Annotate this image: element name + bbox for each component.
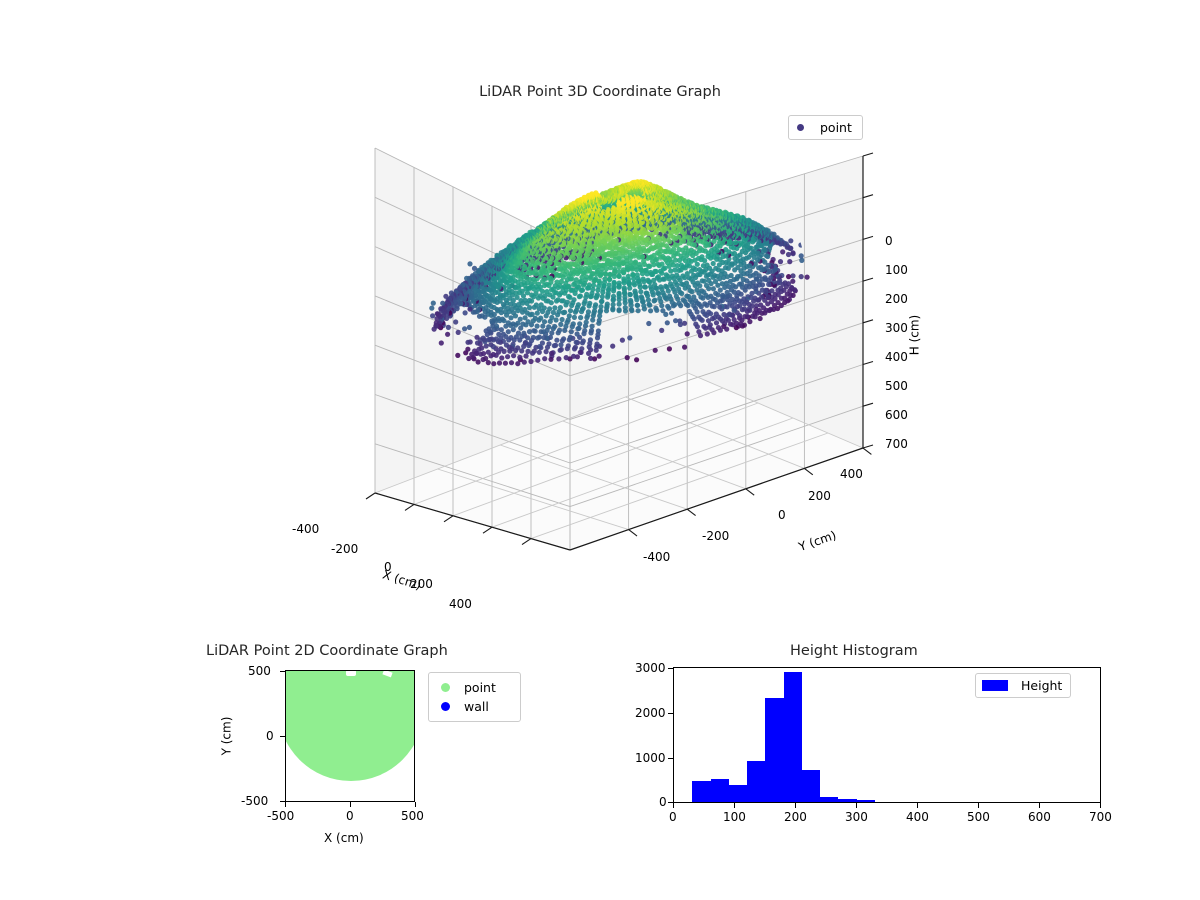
plot2d-container: LiDAR Point 2D Coordinate Graph 500 0 -5… [200,640,540,870]
histogram-ytick-3: 3000 [635,661,666,675]
legend-point-dot-icon [441,683,450,692]
plot3d-ztick-4: 400 [885,350,908,364]
plot2d-xtick-0: -500 [267,809,294,823]
histogram-bar [729,785,747,802]
plot3d-zlabel: H (cm) [907,315,921,356]
histogram-bar [784,672,802,802]
histogram-container: Height Histogram 3000 2000 1000 0 0 100 … [620,640,1120,870]
plot3d-ztick-2: 200 [885,292,908,306]
plot2d-title: LiDAR Point 2D Coordinate Graph [206,643,448,659]
plot3d-title: LiDAR Point 3D Coordinate Graph [0,84,1200,100]
legend-height-label: Height [1021,678,1062,693]
plot3d-canvas [300,130,940,630]
histogram-xtick-0: 0 [669,810,677,824]
plot3d-ytick-4: 400 [840,467,863,481]
plot2d-ylabel: Y (cm) [219,717,233,756]
legend-wall-dot-icon [441,702,450,711]
legend-wall-label: wall [464,699,489,714]
plot3d-ztick-5: 500 [885,379,908,393]
histogram-xtick-2: 200 [784,810,807,824]
histogram-bar [747,761,765,802]
matplotlib-figure: LiDAR Point 3D Coordinate Graph point [0,0,1200,900]
histogram-ytick-1: 1000 [635,751,666,765]
plot2d-ytick-1: 0 [266,729,274,743]
plot3d-ytick-2: 0 [778,508,786,522]
legend-item-point: point [435,678,514,697]
histogram-bar [820,797,838,802]
legend-item-wall: wall [435,697,514,716]
plot3d-ztick-1: 100 [885,263,908,277]
histogram-ytick-2: 2000 [635,706,666,720]
histogram-bar [838,799,856,802]
histogram-bar [857,800,875,802]
histogram-xtick-4: 400 [906,810,929,824]
plot3d-ytick-0: -400 [643,550,670,564]
histogram-xtick-1: 100 [723,810,746,824]
histogram-bar [765,698,783,802]
legend-height-patch-icon [982,680,1008,691]
plot3d-xtick-4: 400 [449,597,472,611]
plot3d-ytick-3: 200 [808,489,831,503]
plot2d-legend: point wall [428,672,521,722]
plot3d-ztick-3: 300 [885,321,908,335]
plot2d-xlabel: X (cm) [324,831,364,845]
histogram-title: Height Histogram [790,643,918,659]
plot2d-ytick-2: 500 [248,664,271,678]
histogram-xtick-3: 300 [845,810,868,824]
plot2d-xtick-2: 500 [401,809,424,823]
histogram-bar [802,770,820,802]
legend-point-label: point [464,680,496,695]
plot3d-ztick-0: 0 [885,234,893,248]
plot3d-xtick-0: -400 [292,522,319,536]
histogram-xtick-7: 700 [1089,810,1112,824]
histogram-xtick-5: 500 [967,810,990,824]
histogram-xtick-6: 600 [1028,810,1051,824]
plot3d-ytick-1: -200 [702,529,729,543]
histogram-legend: Height [975,673,1071,698]
plot3d-ztick-7: 700 [885,437,908,451]
plot2d-ytick-0: -500 [241,794,268,808]
plot3d-ztick-6: 600 [885,408,908,422]
plot2d-xtick-1: 0 [346,809,354,823]
plot2d-gap-1 [346,670,356,676]
histogram-bar [692,781,710,802]
plot3d-xtick-1: -200 [331,542,358,556]
histogram-bar [711,779,729,802]
plot2d-axes [285,670,415,802]
plot3d-axes: -400 -200 0 200 400 -400 -200 0 200 400 … [300,130,940,630]
histogram-ytick-0: 0 [659,795,667,809]
